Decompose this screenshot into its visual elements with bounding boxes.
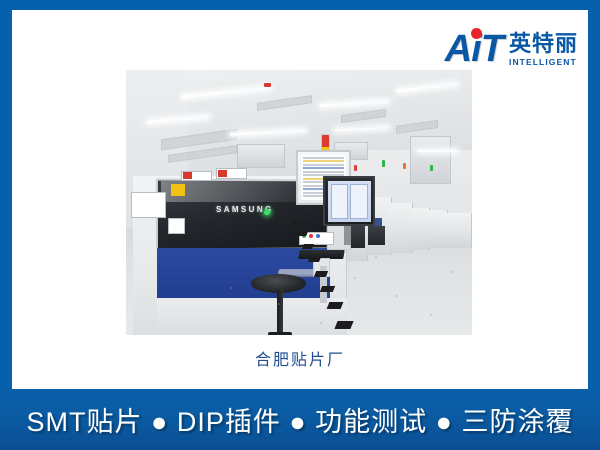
logo-chinese-name: 英特丽 — [509, 33, 578, 55]
factory-photo: SAMSUNG — [126, 70, 472, 335]
aisle-dash — [308, 257, 321, 262]
ceiling-light — [417, 150, 459, 152]
screen-row — [303, 167, 344, 169]
logo-text-block: 英特丽 INTELLIGENT — [509, 31, 578, 67]
aisle-dash — [314, 271, 328, 277]
company-logo[interactable]: AiT 英特丽 INTELLIGENT — [445, 24, 578, 74]
poster-root: AiT 英特丽 INTELLIGENT — [0, 0, 600, 450]
indicator-light — [382, 160, 385, 167]
tower-red-segment — [322, 135, 329, 147]
operator-stool-leg — [277, 290, 284, 335]
photo-caption: 合肥贴片厂 — [12, 346, 588, 370]
screen-row — [303, 157, 344, 159]
logo-english-name: INTELLIGENT — [509, 58, 578, 67]
aisle-dash — [302, 244, 314, 249]
safety-label-red — [218, 170, 227, 177]
ceiling-marker-light — [264, 83, 271, 87]
floor-texture — [375, 256, 377, 258]
screen-pane — [331, 184, 349, 219]
aisle-dash — [327, 302, 344, 309]
services-banner: SMT贴片 ● DIP插件 ● 功能测试 ● 三防涂覆 — [0, 389, 600, 450]
screen-row — [303, 160, 344, 162]
hazard-label-yellow — [171, 184, 185, 196]
ceiling-duct — [237, 144, 285, 168]
logo-letter-t: T — [481, 28, 503, 70]
aisle-dash — [320, 286, 335, 292]
floor-aisle-marking — [285, 218, 375, 335]
inline-machine — [444, 213, 472, 247]
aisle-dash — [335, 321, 354, 329]
screen-row — [303, 171, 344, 173]
indicator-light — [403, 163, 406, 169]
services-banner-text: SMT贴片 ● DIP插件 ● 功能测试 ● 三防涂覆 — [27, 400, 574, 439]
aisle-dash — [297, 232, 308, 236]
logo-letter-a: A — [445, 28, 471, 70]
red-dot-icon — [471, 28, 482, 39]
side-spec-plate — [131, 192, 166, 219]
safety-label-red — [183, 172, 192, 179]
floor-texture — [320, 322, 322, 324]
logo-wordmark: AiT — [445, 30, 503, 68]
screen-row — [303, 164, 344, 166]
ceiling-duct — [410, 136, 452, 184]
screen-pane — [350, 184, 368, 219]
inline-machine-blue-part — [375, 218, 382, 226]
monitor-screen — [328, 181, 371, 222]
aisle-dash — [292, 221, 302, 225]
safety-label — [168, 218, 185, 234]
white-content-card: AiT 英特丽 INTELLIGENT — [12, 10, 588, 440]
